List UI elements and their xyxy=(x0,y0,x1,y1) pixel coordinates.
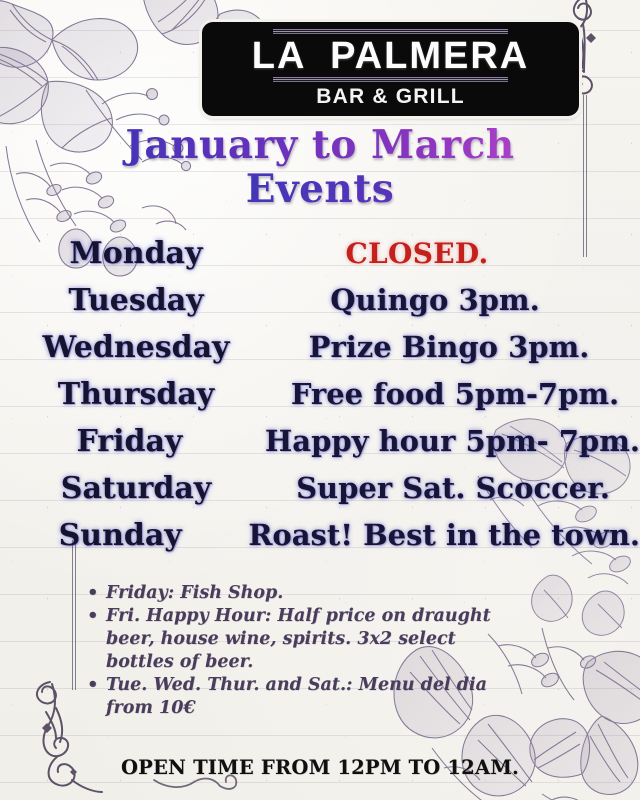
notes-list: Friday: Fish Shop. Fri. Happy Hour: Half… xyxy=(84,582,524,720)
day-label: Sunday xyxy=(0,518,240,553)
event-label: Quingo 3pm. xyxy=(272,283,640,317)
restaurant-tagline: BAR & GRILL xyxy=(316,85,465,109)
day-label: Tuesday xyxy=(0,283,272,318)
weekly-schedule-list: Monday CLOSED. Tuesday Quingo 3pm. Wedne… xyxy=(0,236,640,565)
restaurant-name: LA PALMERA xyxy=(252,37,529,76)
schedule-row-monday: Monday CLOSED. xyxy=(0,236,640,283)
poster-canvas: LA PALMERA BAR & GRILL January to March … xyxy=(0,0,640,800)
day-label: Wednesday xyxy=(0,330,272,365)
event-label: Super Sat. Scoccer. xyxy=(272,471,640,505)
schedule-row-sunday: Sunday Roast! Best in the town. xyxy=(0,518,640,565)
list-item: Friday: Fish Shop. xyxy=(84,582,524,605)
page-title-line-1: January to March xyxy=(0,124,640,168)
day-label: Saturday xyxy=(0,471,272,506)
event-label: Happy hour 5pm- 7pm. xyxy=(259,424,640,458)
day-label: Thursday xyxy=(0,377,272,412)
schedule-row-thursday: Thursday Free food 5pm-7pm. xyxy=(0,377,640,424)
page-title: January to March Events xyxy=(0,124,640,211)
logo-divider-bottom xyxy=(273,77,508,82)
event-label: Prize Bingo 3pm. xyxy=(272,330,640,364)
event-label: Roast! Best in the town. xyxy=(240,518,640,552)
day-label: Friday xyxy=(0,424,259,459)
schedule-row-friday: Friday Happy hour 5pm- 7pm. xyxy=(0,424,640,471)
logo-plaque: LA PALMERA BAR & GRILL xyxy=(202,22,579,116)
logo-divider-top xyxy=(273,29,508,34)
day-label: Monday xyxy=(0,236,272,271)
list-item: Tue. Wed. Thur. and Sat.: Menu del dia f… xyxy=(84,674,524,720)
schedule-row-saturday: Saturday Super Sat. Scoccer. xyxy=(0,471,640,518)
schedule-row-wednesday: Wednesday Prize Bingo 3pm. xyxy=(0,330,640,377)
list-item: Fri. Happy Hour: Half price on draught b… xyxy=(84,605,524,674)
opening-hours-text: OPEN TIME FROM 12PM TO 12AM. xyxy=(0,756,640,779)
schedule-row-tuesday: Tuesday Quingo 3pm. xyxy=(0,283,640,330)
event-label: Free food 5pm-7pm. xyxy=(272,377,640,411)
page-title-line-2: Events xyxy=(0,168,640,212)
event-label: CLOSED. xyxy=(272,237,640,270)
